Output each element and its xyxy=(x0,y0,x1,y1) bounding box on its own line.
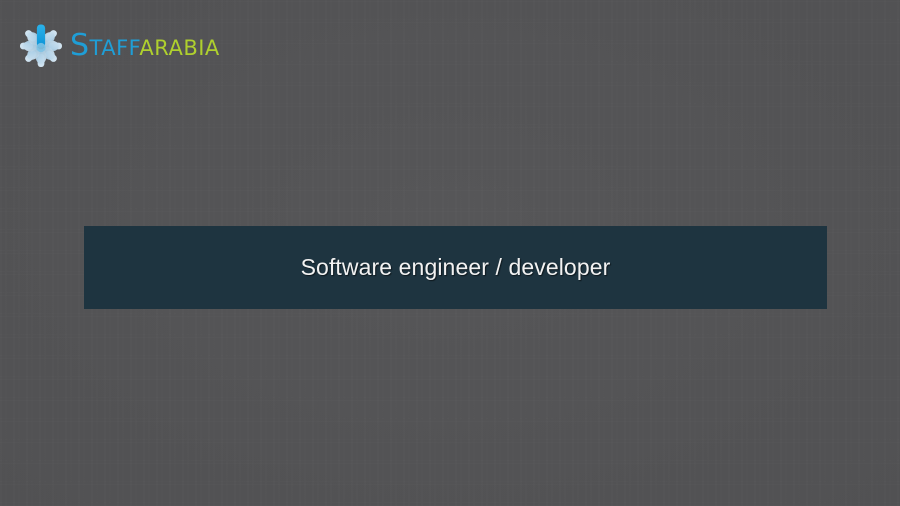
staffarabia-logo[interactable]: Staffarabia xyxy=(18,20,278,72)
title-band: Software engineer / developer xyxy=(84,226,827,309)
slide-canvas: Staffarabia Software engineer / develope… xyxy=(0,0,900,506)
slide-title: Software engineer / developer xyxy=(301,254,611,281)
logo-wordmark: Staffarabia xyxy=(70,31,220,61)
snowflake-logo-icon xyxy=(18,23,64,69)
logo-word-arabia: arabia xyxy=(139,28,219,63)
logo-word-staff: Staff xyxy=(70,28,139,63)
